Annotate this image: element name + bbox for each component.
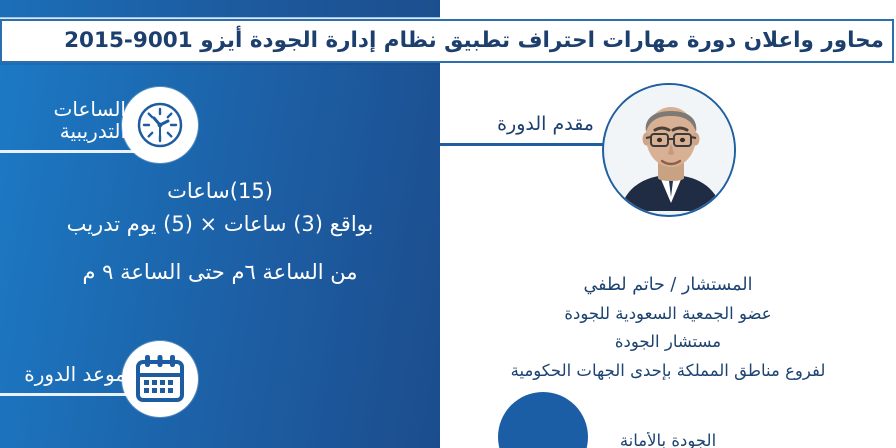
hours-time-window: من الساعة ٦م حتى الساعة ٩ م	[0, 256, 440, 289]
presenter-avatar	[602, 83, 736, 217]
training-hours-row: الساعات التدريبية	[0, 83, 440, 167]
hours-breakdown: بواقع (3) ساعات × (5) يوم تدريب	[0, 208, 440, 241]
presenter-credentials: المستشار / حاتم لطفي عضو الجمعية السعودي…	[440, 270, 896, 385]
decorative-circle	[498, 392, 588, 448]
hours-total: (15)ساعات	[0, 175, 440, 208]
clock-icon	[122, 87, 198, 163]
presenter-label: مقدم الدورة	[440, 113, 604, 135]
calendar-icon	[122, 341, 198, 417]
training-hours-label-wrap: الساعات التدريبية	[0, 83, 140, 167]
credential-line: عضو الجمعية السعودية للجودة	[440, 300, 896, 328]
credential-line: لفروع مناطق المملكة بإحدى الجهات الحكومي…	[440, 357, 896, 385]
credential-line: المستشار / حاتم لطفي	[440, 270, 896, 300]
course-date-label: موعد الدورة	[0, 363, 140, 385]
training-hours-rule	[0, 150, 140, 153]
course-date-label-wrap: موعد الدورة	[0, 337, 140, 421]
training-hours-details: (15)ساعات بواقع (3) ساعات × (5) يوم تدري…	[0, 175, 440, 289]
top-accent-bar	[0, 0, 440, 17]
presenter-rule	[440, 143, 604, 146]
course-date-row: موعد الدورة	[0, 337, 440, 421]
course-details-panel: الساعات التدريبية	[0, 65, 440, 448]
training-hours-label: الساعات التدريبية	[0, 98, 140, 142]
course-date-rule	[0, 393, 140, 396]
credential-line: مستشار الجودة	[440, 328, 896, 356]
course-announcement-poster: محاور واعلان دورة مهارات احتراف تطبيق نظ…	[0, 0, 896, 448]
page-title-box: محاور واعلان دورة مهارات احتراف تطبيق نظ…	[0, 19, 894, 63]
presenter-row: مقدم الدورة	[440, 75, 896, 225]
presenter-label-wrap: مقدم الدورة	[440, 113, 604, 173]
presenter-panel: مقدم الدورة	[440, 65, 896, 448]
page-title: محاور واعلان دورة مهارات احتراف تطبيق نظ…	[64, 30, 884, 52]
